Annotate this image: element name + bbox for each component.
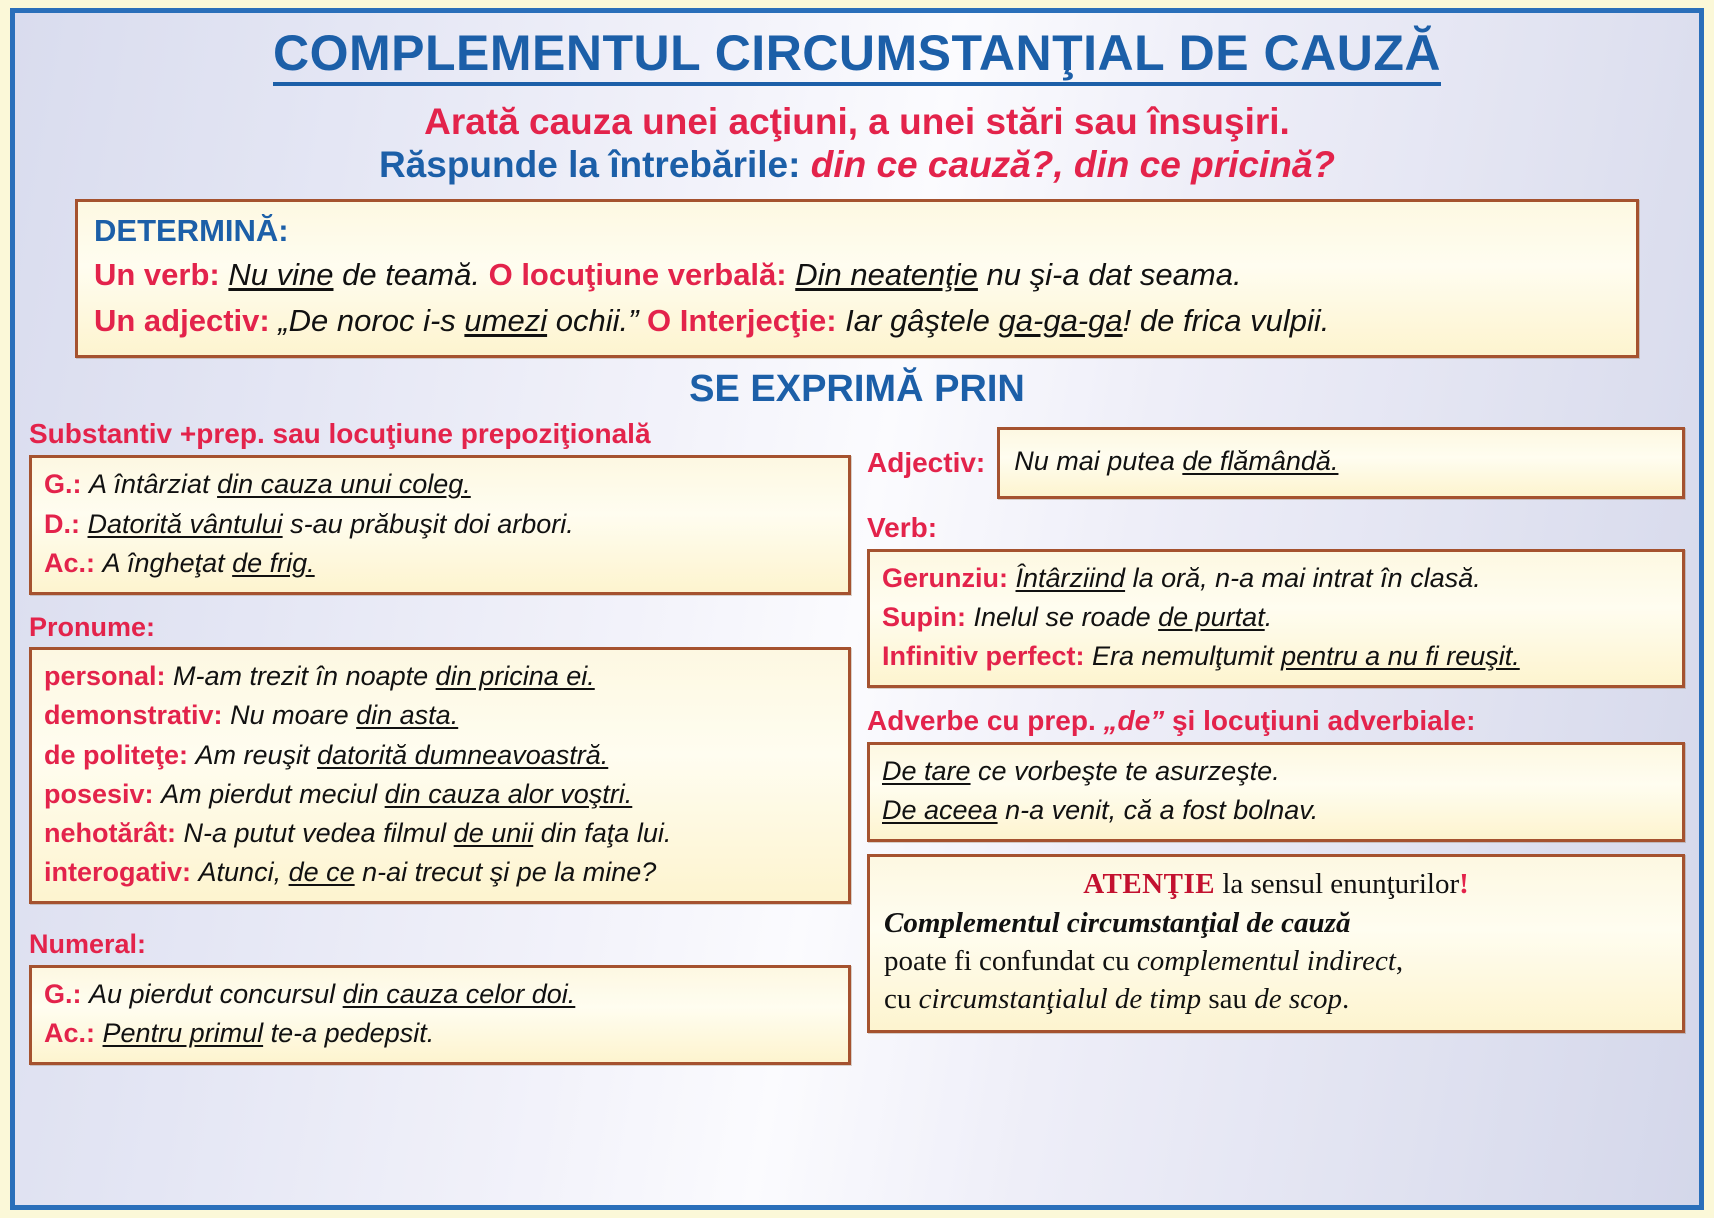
- caption-adverbe-quoted: „de”: [1104, 705, 1165, 736]
- case-label: Ac.:: [44, 548, 95, 578]
- adjectiv-row: Adjectiv: Nu mai putea de flămândă.: [867, 427, 1685, 498]
- case-label: de politeţe:: [44, 740, 188, 770]
- adjectiv-box: Nu mai putea de flămândă.: [997, 427, 1685, 498]
- list-item: Ac.: Pentru primul te-a pedepsit.: [44, 1014, 836, 1053]
- atentie-line4-a: cu: [884, 983, 919, 1015]
- example-pre: N-a putut vedea filmul: [184, 818, 454, 848]
- subtitle-block: Arată cauza unei acţiuni, a unei stări s…: [15, 100, 1699, 187]
- adverbe-box: De tare ce vorbeşte te asurzeşte. De ace…: [867, 742, 1685, 842]
- list-item: Gerunziu: Întârziind la oră, n-a mai int…: [882, 559, 1670, 598]
- list-item: nehotărât: N-a putut vedea filmul de uni…: [44, 814, 836, 853]
- label-un-adjectiv: Un adjectiv:: [94, 303, 270, 338]
- example-post: n-a venit, că a fost bolnav.: [998, 795, 1319, 825]
- caption-adverbe: Adverbe cu prep. „de” şi locuţiuni adver…: [867, 700, 1685, 742]
- list-item: G.: A întârziat din cauza unui coleg.: [44, 465, 836, 504]
- example-underlined: din cauza unui coleg.: [217, 469, 471, 499]
- list-item: demonstrativ: Nu moare din asta.: [44, 696, 836, 735]
- example-underlined: De aceea: [882, 795, 998, 825]
- caption-numeral: Numeral:: [29, 924, 851, 965]
- question-1: din ce cauză?: [811, 144, 1054, 185]
- example-post: ce vorbeşte te asurzeşte.: [971, 756, 1280, 786]
- content-columns: Substantiv +prep. sau locuţiune prepoziţ…: [15, 413, 1699, 1065]
- example-adjectiv-pre: „De noroc i-s: [278, 303, 464, 338]
- example-underlined: de ce: [289, 857, 355, 887]
- example-post: .: [1265, 602, 1273, 632]
- caption-substantiv: Substantiv +prep. sau locuţiune prepoziţ…: [29, 413, 851, 455]
- page-title: COMPLEMENTUL CIRCUMSTANŢIAL DE CAUZĂ: [273, 27, 1441, 86]
- example-underlined: Datorită vântului: [88, 509, 283, 539]
- example-underlined: de unii: [454, 818, 534, 848]
- example-pre: M-am trezit în noapte: [173, 661, 436, 691]
- example-underlined: din asta.: [356, 700, 458, 730]
- label-interjectie: O Interjecţie:: [647, 303, 837, 338]
- example-pre: Am reuşit: [196, 740, 318, 770]
- pronume-box: personal: M-am trezit în noapte din pric…: [29, 647, 851, 904]
- numeral-box: G.: Au pierdut concursul din cauza celor…: [29, 965, 851, 1065]
- list-item: Nu mai putea de flămândă.: [1014, 442, 1668, 481]
- case-label: nehotărât:: [44, 818, 176, 848]
- example-underlined: din cauza alor voştri.: [385, 779, 633, 809]
- subtitle-question-intro: Răspunde la întrebările:: [379, 144, 811, 185]
- question-separator: ,: [1053, 144, 1074, 185]
- atentie-heading: ATENŢIE la sensul enunţurilor!: [884, 865, 1668, 903]
- list-item: personal: M-am trezit în noapte din pric…: [44, 657, 836, 696]
- example-underlined: De tare: [882, 756, 971, 786]
- atentie-line4-italic-1: circumstanţialul de timp: [919, 983, 1201, 1015]
- label-un-verb: Un verb:: [94, 257, 220, 292]
- atentie-line-3: poate fi confundat cu complementul indir…: [884, 942, 1668, 980]
- caption-adverbe-post: şi locuţiuni adverbiale:: [1164, 705, 1475, 736]
- label-locutiune-verbala: O locuţiune verbală:: [489, 257, 787, 292]
- example-pre: Am pierdut meciul: [161, 779, 385, 809]
- case-label: personal:: [44, 661, 166, 691]
- determina-row-adjectiv: Un adjectiv: „De noroc i-s umezi ochii.”…: [94, 298, 1620, 344]
- list-item: Ac.: A îngheţat de frig.: [44, 544, 836, 583]
- example-underlined: Pentru primul: [103, 1018, 264, 1048]
- case-label: Infinitiv perfect:: [882, 641, 1085, 671]
- list-item: Infinitiv perfect: Era nemulţumit pentru…: [882, 637, 1670, 676]
- example-interjectie-rest: ! de frica vulpii.: [1123, 303, 1330, 338]
- list-item: De aceea n-a venit, că a fost bolnav.: [882, 791, 1670, 830]
- example-adjectiv-rest: ochii.”: [547, 303, 638, 338]
- example-underlined: din pricina ei.: [436, 661, 595, 691]
- atentie-exclamation: !: [1459, 868, 1469, 900]
- example-underlined: de frig.: [232, 548, 315, 578]
- list-item: Supin: Inelul se roade de purtat.: [882, 598, 1670, 637]
- example-underlined: datorită dumneavoastră.: [317, 740, 608, 770]
- case-label: G.:: [44, 979, 82, 1009]
- example-verb-underlined: Nu vine: [228, 257, 333, 292]
- question-2: din ce pricină?: [1074, 144, 1335, 185]
- case-label: G.:: [44, 469, 82, 499]
- example-post: la oră, n-a mai intrat în clasă.: [1125, 563, 1481, 593]
- case-label: demonstrativ:: [44, 700, 223, 730]
- subtitle-line-2: Răspunde la întrebările: din ce cauză?, …: [15, 143, 1699, 187]
- example-locutiune-underlined: Din neatenţie: [795, 257, 978, 292]
- list-item: posesiv: Am pierdut meciul din cauza alo…: [44, 775, 836, 814]
- case-label: Supin:: [882, 602, 966, 632]
- example-pre: A îngheţat: [103, 548, 233, 578]
- atentie-line3-a: poate fi confundat cu: [884, 945, 1137, 977]
- case-label: posesiv:: [44, 779, 154, 809]
- list-item: G.: Au pierdut concursul din cauza celor…: [44, 975, 836, 1014]
- verb-box: Gerunziu: Întârziind la oră, n-a mai int…: [867, 549, 1685, 688]
- example-pre: Nu mai putea: [1014, 446, 1182, 476]
- se-exprima-heading: SE EXPRIMĂ PRIN: [15, 368, 1699, 411]
- atentie-line4-b: sau: [1201, 983, 1254, 1015]
- example-post: s-au prăbuşit doi arbori.: [283, 509, 574, 539]
- example-pre: Au pierdut concursul: [89, 979, 343, 1009]
- determina-row-verb: Un verb: Nu vine de teamă. O locuţiune v…: [94, 252, 1620, 298]
- list-item: de politeţe: Am reuşit datorită dumneavo…: [44, 736, 836, 775]
- atentie-label: ATENŢIE: [1083, 868, 1215, 900]
- caption-pronume: Pronume:: [29, 607, 851, 648]
- atentie-line-2: Complementul circumstanţial de cauză: [884, 904, 1668, 942]
- example-interjectie-pre: Iar gâştele: [845, 303, 998, 338]
- atentie-line4-c: .: [1342, 983, 1349, 1015]
- right-column: Adjectiv: Nu mai putea de flămândă. Verb…: [857, 413, 1685, 1065]
- determina-box: DETERMINĂ: Un verb: Nu vine de teamă. O …: [75, 199, 1639, 359]
- atentie-line3-italic: complementul indirect: [1137, 945, 1396, 977]
- atentie-line-4: cu circumstanţialul de timp sau de scop.: [884, 980, 1668, 1018]
- atentie-line3-b: ,: [1396, 945, 1403, 977]
- example-post: n-ai trecut şi pe la mine?: [355, 857, 657, 887]
- title-area: COMPLEMENTUL CIRCUMSTANŢIAL DE CAUZĂ: [15, 13, 1699, 86]
- example-locutiune-rest: nu şi-a dat seama.: [978, 257, 1242, 292]
- case-label: Gerunziu:: [882, 563, 1008, 593]
- example-pre: A întârziat: [89, 469, 217, 499]
- example-post: te-a pedepsit.: [263, 1018, 434, 1048]
- example-pre: Atunci,: [199, 857, 289, 887]
- example-pre: Era nemulţumit: [1092, 641, 1281, 671]
- example-underlined: pentru a nu fi reuşit.: [1281, 641, 1520, 671]
- example-interjectie-underlined: ga-ga-ga: [999, 303, 1123, 338]
- example-underlined: Întârziind: [1016, 563, 1126, 593]
- subtitle-line-1: Arată cauza unei acţiuni, a unei stări s…: [15, 100, 1699, 144]
- example-verb-rest: de teamă.: [333, 257, 479, 292]
- determina-heading: DETERMINĂ:: [94, 210, 1620, 252]
- example-pre: Inelul se roade: [974, 602, 1159, 632]
- atentie-box: ATENŢIE la sensul enunţurilor! Complemen…: [867, 854, 1685, 1033]
- example-underlined: de purtat: [1158, 602, 1265, 632]
- example-post: din faţa lui.: [533, 818, 671, 848]
- case-label: Ac.:: [44, 1018, 95, 1048]
- caption-adverbe-pre: Adverbe cu prep.: [867, 705, 1104, 736]
- left-column: Substantiv +prep. sau locuţiune prepoziţ…: [29, 413, 857, 1065]
- list-item: interogativ: Atunci, de ce n-ai trecut ş…: [44, 853, 836, 892]
- poster: COMPLEMENTUL CIRCUMSTANŢIAL DE CAUZĂ Ara…: [10, 8, 1704, 1210]
- case-label: D.:: [44, 509, 80, 539]
- substantiv-box: G.: A întârziat din cauza unui coleg. D.…: [29, 455, 851, 594]
- case-label: interogativ:: [44, 857, 191, 887]
- example-underlined: din cauza celor doi.: [343, 979, 576, 1009]
- example-adjectiv-underlined: umezi: [464, 303, 547, 338]
- caption-verb: Verb:: [867, 507, 1685, 549]
- atentie-line4-italic-2: de scop: [1254, 983, 1342, 1015]
- example-pre: Nu moare: [230, 700, 356, 730]
- example-underlined: de flămândă.: [1182, 446, 1338, 476]
- caption-adjectiv: Adjectiv:: [867, 447, 985, 479]
- list-item: D.: Datorită vântului s-au prăbuşit doi …: [44, 505, 836, 544]
- atentie-heading-rest: la sensul enunţurilor: [1215, 868, 1459, 900]
- list-item: De tare ce vorbeşte te asurzeşte.: [882, 752, 1670, 791]
